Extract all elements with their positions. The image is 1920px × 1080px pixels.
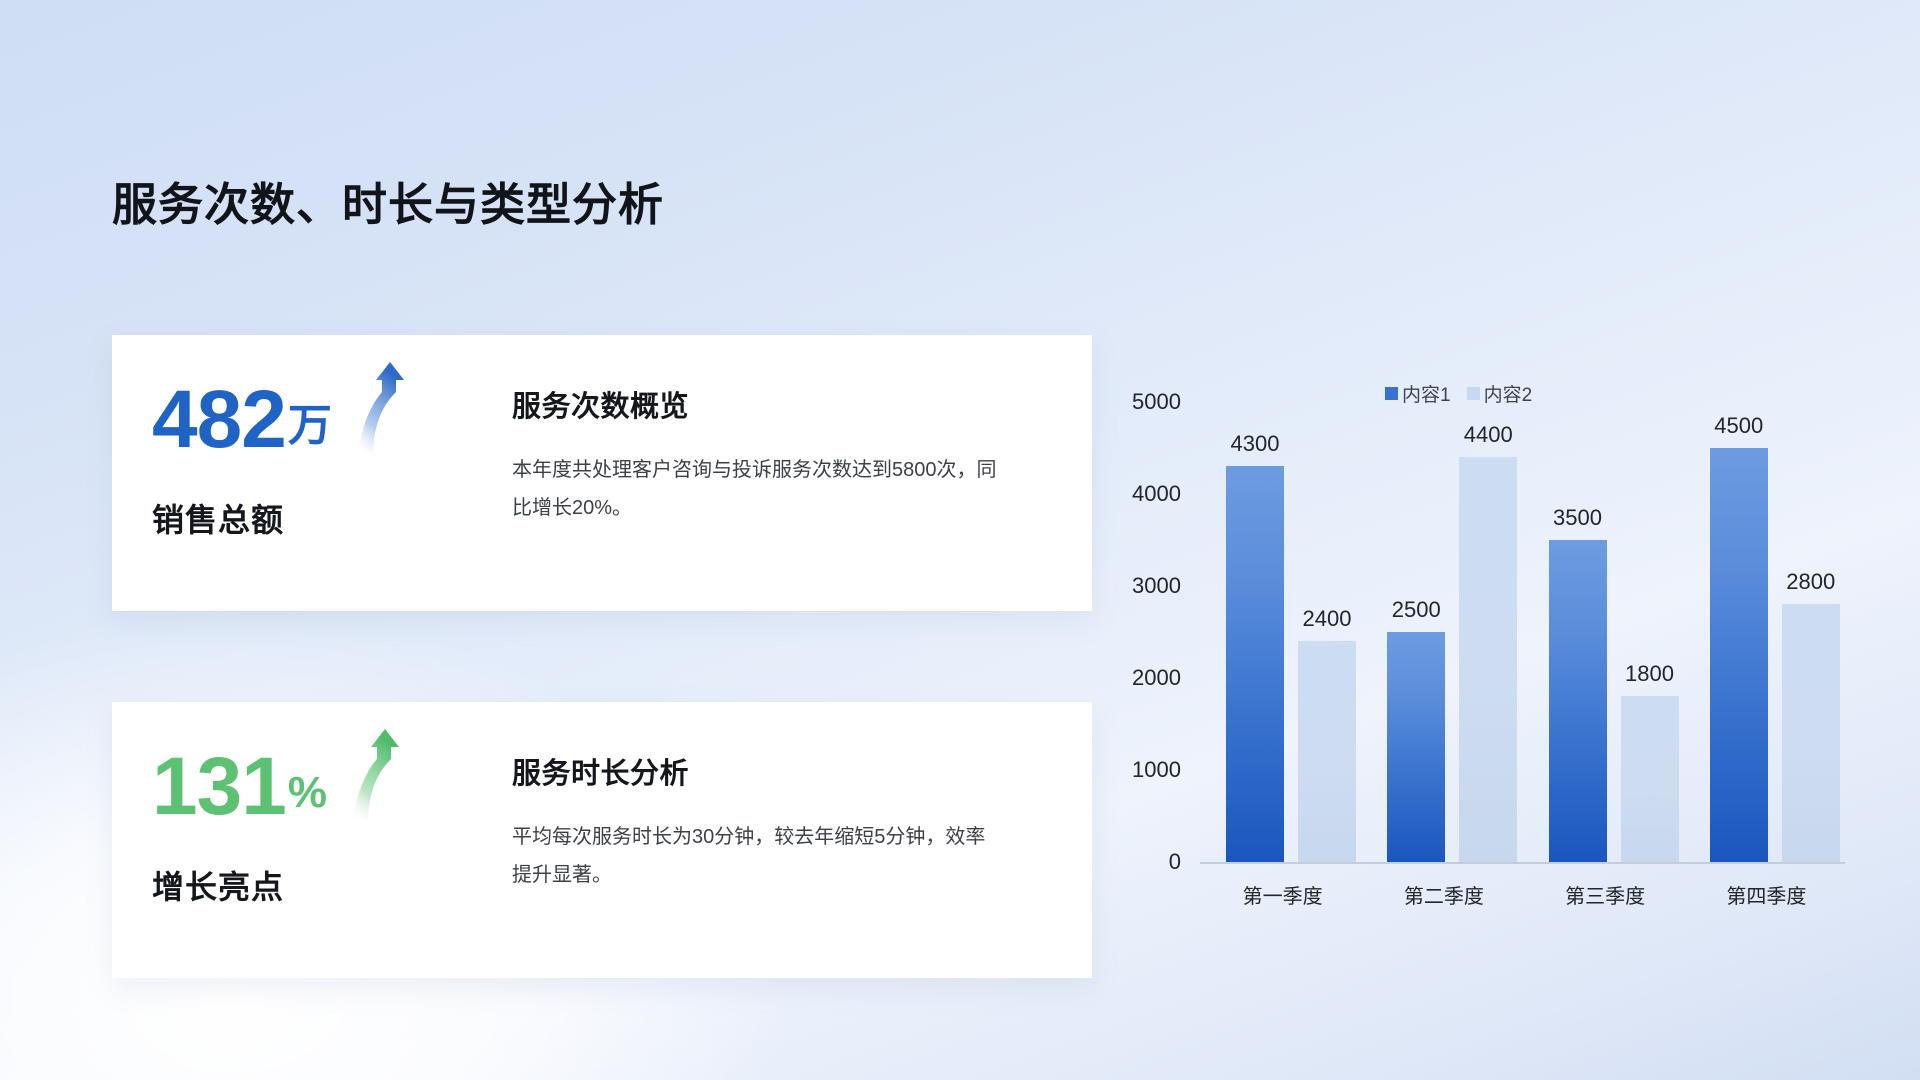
bar-value-label: 2500	[1392, 597, 1441, 623]
bar-内容1-第四季度[interactable]: 4500	[1710, 448, 1768, 862]
card-heading: 服务次数概览	[512, 383, 1032, 425]
y-axis-tick: 0	[1169, 849, 1181, 875]
slide-canvas: 服务次数、时长与类型分析 482 万	[0, 0, 1920, 1080]
x-axis-category-label: 第一季度	[1243, 880, 1323, 909]
stat-card-growth: 131 %	[112, 702, 1092, 978]
x-axis-line	[1200, 862, 1845, 864]
bar-value-label: 2800	[1786, 569, 1835, 595]
x-axis-category-label: 第四季度	[1726, 880, 1806, 909]
y-axis-tick: 1000	[1132, 757, 1181, 783]
bar-内容2-第一季度[interactable]: 2400	[1298, 641, 1356, 862]
y-axis-tick: 5000	[1132, 389, 1181, 415]
bar-value-label: 4300	[1231, 431, 1280, 457]
bar-group: 45002800	[1684, 402, 1845, 862]
x-axis-category-label: 第三季度	[1565, 880, 1645, 909]
bar-内容1-第一季度[interactable]: 4300	[1226, 466, 1284, 862]
card-body-text: 平均每次服务时长为30分钟，较去年缩短5分钟，效率提升显著。	[512, 818, 1002, 894]
bar-内容2-第三季度[interactable]: 1800	[1621, 696, 1679, 862]
bar-value-label: 3500	[1553, 505, 1602, 531]
up-arrow-icon	[341, 729, 407, 826]
card-body-text: 本年度共处理客户咨询与投诉服务次数达到5800次，同比增长20%。	[512, 451, 1002, 527]
bar-内容1-第二季度[interactable]: 2500	[1387, 632, 1445, 862]
stat-unit: 万	[288, 395, 332, 457]
stat-card-sales: 482 万	[112, 335, 1092, 611]
bars-area: 43002400250044003500180045002800	[1200, 402, 1845, 862]
bar-内容2-第二季度[interactable]: 4400	[1459, 457, 1517, 862]
y-axis: 500040003000200010000	[1115, 402, 1195, 862]
bar-value-label: 1800	[1625, 661, 1674, 687]
legend-swatch-icon	[1467, 387, 1480, 400]
bar-group: 25004400	[1361, 402, 1522, 862]
card-heading: 服务时长分析	[512, 750, 1032, 792]
stat-caption: 增长亮点	[152, 862, 472, 908]
bar-value-label: 4500	[1714, 413, 1763, 439]
bar-value-label: 2400	[1303, 606, 1352, 632]
chart-plot-area: 500040003000200010000 430024002500440035…	[1115, 402, 1845, 922]
stat-unit: %	[288, 762, 327, 824]
bar-内容2-第四季度[interactable]: 2800	[1782, 604, 1840, 862]
bar-group: 35001800	[1523, 402, 1684, 862]
bar-value-label: 4400	[1464, 422, 1513, 448]
bar-group: 43002400	[1200, 402, 1361, 862]
bar-内容1-第三季度[interactable]: 3500	[1549, 540, 1607, 862]
stat-caption: 销售总额	[152, 495, 472, 541]
y-axis-tick: 4000	[1132, 481, 1181, 507]
stat-number: 131	[152, 746, 286, 828]
legend-swatch-icon	[1385, 387, 1398, 400]
stat-block: 131 %	[152, 736, 472, 908]
stat-block: 482 万	[152, 369, 472, 541]
x-axis-category-label: 第二季度	[1404, 880, 1484, 909]
y-axis-tick: 2000	[1132, 665, 1181, 691]
up-arrow-icon	[346, 362, 412, 459]
card-text-block: 服务时长分析 平均每次服务时长为30分钟，较去年缩短5分钟，效率提升显著。	[512, 750, 1032, 894]
page-title: 服务次数、时长与类型分析	[112, 168, 664, 233]
y-axis-tick: 3000	[1132, 573, 1181, 599]
bar-chart: 内容1内容2 500040003000200010000 43002400250…	[1115, 380, 1845, 960]
stat-number: 482	[152, 379, 286, 461]
card-text-block: 服务次数概览 本年度共处理客户咨询与投诉服务次数达到5800次，同比增长20%。	[512, 383, 1032, 527]
